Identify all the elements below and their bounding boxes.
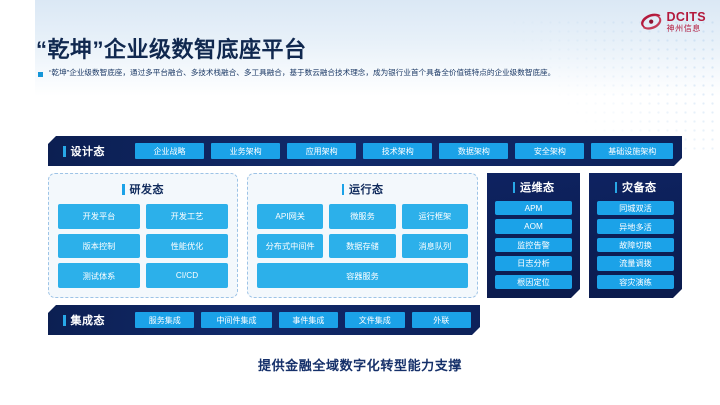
title-tick-icon [63, 146, 66, 157]
ops-item[interactable]: 监控告警 [495, 238, 572, 252]
rd-item[interactable]: CI/CD [146, 263, 228, 288]
runtime-item[interactable]: 容器服务 [257, 263, 468, 288]
rd-item[interactable]: 性能优化 [146, 234, 228, 259]
design-item[interactable]: 安全架构 [515, 143, 584, 159]
design-layer-bar: 设计态 企业战略 业务架构 应用架构 技术架构 数据架构 安全架构 基础设施架构 [48, 136, 682, 166]
design-item[interactable]: 业务架构 [211, 143, 280, 159]
runtime-panel: 运行态 API网关 微服务 运行框架 分布式中间件 数据存储 消息队列 容器服务 [247, 173, 478, 298]
runtime-row: API网关 微服务 运行框架 [257, 204, 468, 229]
design-item[interactable]: 应用架构 [287, 143, 356, 159]
logo-text-cn: 神州信息 [667, 25, 707, 33]
disaster-recovery-panel: 灾备态 同城双活 异地多活 故障切换 流量调拨 容灾演练 [589, 173, 682, 298]
ops-panel-header: 运维态 [495, 179, 572, 195]
integration-bar-wrapper: 集成态 服务集成 中间件集成 事件集成 文件集成 外联 [48, 305, 682, 335]
dr-item[interactable]: 容灾演练 [597, 275, 674, 289]
ops-item[interactable]: AOM [495, 219, 572, 233]
dr-panel-title: 灾备态 [622, 179, 657, 195]
title-tick-icon [122, 184, 125, 195]
design-item[interactable]: 数据架构 [439, 143, 508, 159]
page-title: “乾坤”企业级数智底座平台 [36, 32, 307, 64]
platform-architecture-diagram: 设计态 企业战略 业务架构 应用架构 技术架构 数据架构 安全架构 基础设施架构… [48, 136, 682, 346]
runtime-item[interactable]: API网关 [257, 204, 323, 229]
runtime-item[interactable]: 分布式中间件 [257, 234, 323, 259]
integration-layer-title: 集成态 [57, 312, 135, 328]
rd-item[interactable]: 测试体系 [58, 263, 140, 288]
logo-text-en: DCITS [667, 11, 707, 24]
ops-panel-title: 运维态 [520, 179, 555, 195]
dr-item[interactable]: 异地多活 [597, 219, 674, 233]
rd-item[interactable]: 开发平台 [58, 204, 140, 229]
middle-layers-row: 研发态 开发平台 开发工艺 版本控制 性能优化 测试体系 CI/CD [48, 173, 682, 298]
rd-item[interactable]: 版本控制 [58, 234, 140, 259]
runtime-item[interactable]: 运行框架 [402, 204, 468, 229]
design-item[interactable]: 技术架构 [363, 143, 432, 159]
footer-caption: 提供金融全域数字化转型能力支撑 [0, 355, 720, 374]
runtime-item[interactable]: 消息队列 [402, 234, 468, 259]
page-subtitle: “乾坤”企业级数智底座，通过多平台融合、多技术栈融合、多工具融合，基于数云融合技… [49, 68, 555, 78]
integration-item[interactable]: 服务集成 [135, 312, 194, 328]
rd-row: 开发平台 开发工艺 [58, 204, 228, 229]
dr-panel-header: 灾备态 [597, 179, 674, 195]
ops-item[interactable]: 根因定位 [495, 275, 572, 289]
integration-layer-bar: 集成态 服务集成 中间件集成 事件集成 文件集成 外联 [48, 305, 480, 335]
dr-panel-list: 同城双活 异地多活 故障切换 流量调拨 容灾演练 [597, 201, 674, 289]
dr-item[interactable]: 流量调拨 [597, 256, 674, 270]
integration-item[interactable]: 外联 [412, 312, 471, 328]
design-item[interactable]: 企业战略 [135, 143, 204, 159]
runtime-panel-header: 运行态 [257, 181, 468, 197]
ops-panel-list: APM AOM 监控告警 日志分析 根因定位 [495, 201, 572, 289]
rd-panel-header: 研发态 [58, 181, 228, 197]
decorative-dot-pattern [510, 18, 720, 153]
dcits-swirl-icon [639, 12, 663, 32]
dcits-logo: DCITS 神州信息 [639, 11, 707, 33]
runtime-panel-title: 运行态 [349, 181, 384, 197]
runtime-item[interactable]: 微服务 [329, 204, 395, 229]
runtime-row: 容器服务 [257, 263, 468, 288]
rd-panel-grid: 开发平台 开发工艺 版本控制 性能优化 测试体系 CI/CD [58, 204, 228, 288]
bullet-marker-icon [38, 72, 43, 77]
rd-panel-title: 研发态 [130, 181, 165, 197]
runtime-row: 分布式中间件 数据存储 消息队列 [257, 234, 468, 259]
dr-item[interactable]: 故障切换 [597, 238, 674, 252]
subtitle-row: “乾坤”企业级数智底座，通过多平台融合、多技术栈融合、多工具融合，基于数云融合技… [38, 68, 555, 78]
integration-layer-label: 集成态 [71, 312, 106, 328]
title-tick-icon [615, 182, 618, 193]
rd-panel: 研发态 开发平台 开发工艺 版本控制 性能优化 测试体系 CI/CD [48, 173, 238, 298]
integration-layer-items: 服务集成 中间件集成 事件集成 文件集成 外联 [135, 312, 471, 328]
integration-item[interactable]: 事件集成 [279, 312, 338, 328]
title-tick-icon [513, 182, 516, 193]
design-item[interactable]: 基础设施架构 [591, 143, 673, 159]
design-layer-items: 企业战略 业务架构 应用架构 技术架构 数据架构 安全架构 基础设施架构 [135, 143, 673, 159]
rd-row: 版本控制 性能优化 [58, 234, 228, 259]
rd-row: 测试体系 CI/CD [58, 263, 228, 288]
ops-panel: 运维态 APM AOM 监控告警 日志分析 根因定位 [487, 173, 580, 298]
title-tick-icon [63, 315, 66, 326]
design-layer-title: 设计态 [57, 143, 135, 159]
design-layer-label: 设计态 [71, 143, 106, 159]
rd-item[interactable]: 开发工艺 [146, 204, 228, 229]
integration-item[interactable]: 中间件集成 [201, 312, 271, 328]
ops-item[interactable]: 日志分析 [495, 256, 572, 270]
integration-item[interactable]: 文件集成 [345, 312, 404, 328]
runtime-panel-grid: API网关 微服务 运行框架 分布式中间件 数据存储 消息队列 容器服务 [257, 204, 468, 288]
runtime-item[interactable]: 数据存储 [329, 234, 395, 259]
title-tick-icon [342, 184, 345, 195]
dr-item[interactable]: 同城双活 [597, 201, 674, 215]
ops-item[interactable]: APM [495, 201, 572, 215]
